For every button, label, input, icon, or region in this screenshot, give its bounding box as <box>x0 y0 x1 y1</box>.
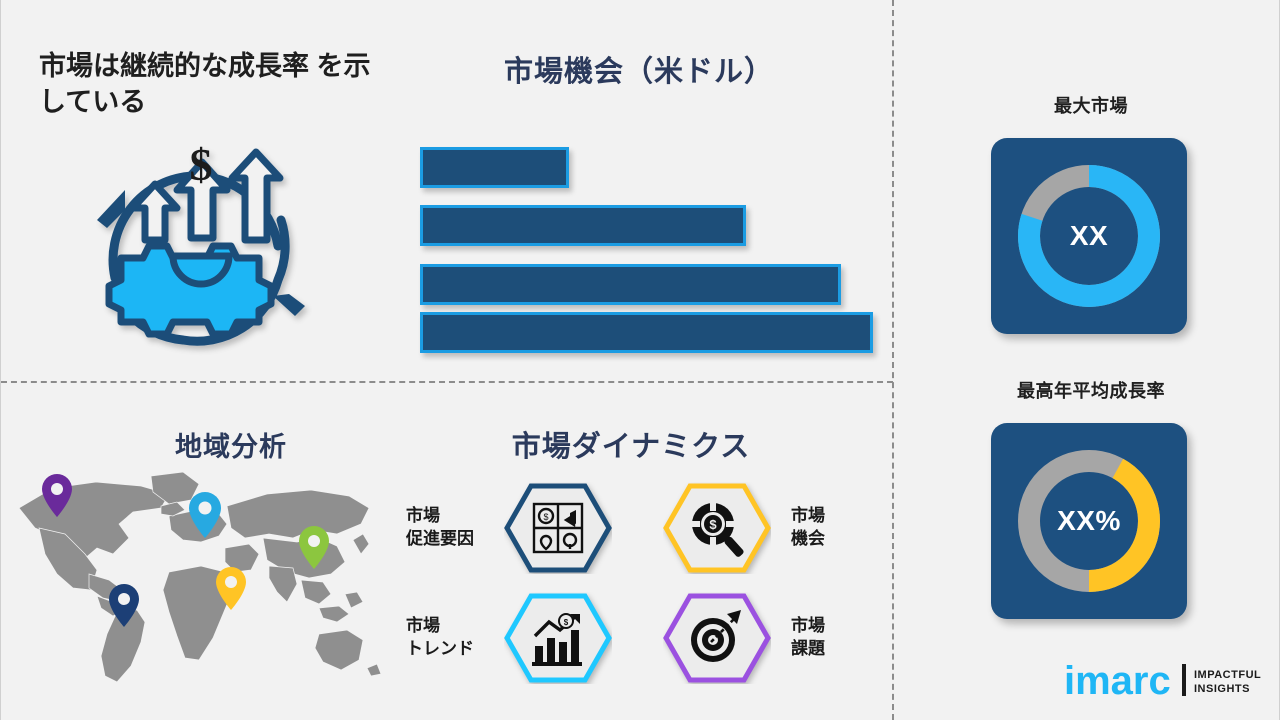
growth-cycle-gear-icon: $ <box>73 128 323 368</box>
largest-market-card: XX <box>991 138 1187 334</box>
logo-wordmark: imarc <box>1064 659 1171 703</box>
growth-panel-title: 市場は継続的な成長率 を示している <box>39 48 384 121</box>
bar-item <box>420 147 569 188</box>
bar-item <box>420 312 873 353</box>
dynamics-item-opportunities[interactable]: $ 市場 機会 <box>649 482 869 574</box>
dynamics-item-opportunities-hex: $ <box>663 482 771 574</box>
dynamics-item-challenges[interactable]: 市場 課題 <box>649 592 869 684</box>
regional-panel-title: 地域分析 <box>61 425 401 464</box>
dollar-symbol: $ <box>190 139 213 190</box>
highest-cagr-value: XX% <box>991 423 1187 619</box>
dynamics-item-trends[interactable]: 市場 トレンド $ <box>406 592 626 684</box>
dynamics-panel-title: 市場ダイナミクス <box>421 423 841 465</box>
logo-tagline-line2: INSIGHTS <box>1194 683 1250 695</box>
opportunity-panel-title: 市場機会（米ドル） <box>419 48 859 90</box>
largest-market-value: XX <box>991 138 1187 334</box>
dynamics-item-trends-label: 市場 トレンド <box>406 615 498 661</box>
puzzle-pieces-icon: $ <box>534 504 582 552</box>
opportunity-bar-chart <box>420 147 880 347</box>
highest-cagr-card: XX% <box>991 423 1187 619</box>
highest-cagr-title: 最高年平均成長率 <box>941 377 1241 403</box>
dynamics-item-challenges-label: 市場 課題 <box>791 615 869 661</box>
logo-divider <box>1182 664 1186 696</box>
imarc-logo: imarc IMPACTFUL INSIGHTS <box>1064 656 1264 704</box>
infographic-slide: 市場は継続的な成長率 を示している <box>0 0 1280 720</box>
dynamics-item-trends-hex: $ <box>504 592 612 684</box>
world-map <box>1 462 401 697</box>
dynamics-item-drivers-hex: $ <box>504 482 612 574</box>
horizontal-divider <box>1 381 893 383</box>
logo-tagline-line1: IMPACTFUL <box>1194 669 1261 681</box>
dynamics-item-drivers-label: 市場 促進要因 <box>406 505 498 551</box>
bar-item <box>420 205 746 246</box>
largest-market-title: 最大市場 <box>941 92 1241 118</box>
svg-text:$: $ <box>564 618 569 627</box>
vertical-divider <box>892 0 894 720</box>
dynamics-item-opportunities-label: 市場 機会 <box>791 505 869 551</box>
svg-text:$: $ <box>543 512 548 522</box>
dynamics-item-drivers[interactable]: 市場 促進要因 $ <box>406 482 626 574</box>
bar-item <box>420 264 841 305</box>
dynamics-item-challenges-hex <box>663 592 771 684</box>
svg-text:$: $ <box>709 517 717 532</box>
